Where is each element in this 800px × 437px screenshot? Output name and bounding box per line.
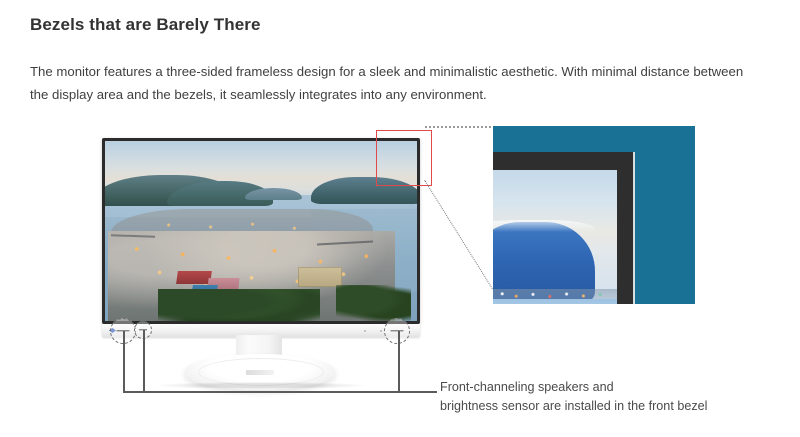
photo-treeline-right [336,285,411,321]
leader-line-speaker-right [398,331,400,393]
control-dot-icon [364,330,366,332]
inset-screen-content [493,170,617,304]
inset-photo-ridge-highlight [493,220,595,232]
photo-red-roof [176,271,212,284]
connector-top-dotted [425,126,495,128]
caption-line-2: brightness sensor are installed in the f… [440,397,770,416]
inset-photo-sea [493,299,617,304]
screen-photo-cityscape [105,141,417,321]
control-dot-icon [380,330,382,332]
photo-large-building [298,267,342,287]
photo-treeline [158,289,320,321]
caption-line-1: Front-channeling speakers and [440,378,770,397]
stand-brand-logo-icon [246,370,274,375]
body-paragraph: The monitor features a three-sided frame… [30,60,750,106]
photo-hill-right [311,177,417,204]
callout-dash-icon [391,330,404,331]
page-title: Bezels that are Barely There [30,15,261,35]
leader-line-sensor [143,330,145,393]
leader-line-horizontal [123,391,437,393]
magnified-bezel-inset [493,126,695,304]
callout-caption: Front-channeling speakers and brightness… [440,378,770,416]
monitor-screen [105,141,417,321]
leader-line-speaker-left [123,331,125,393]
callout-speaker-right [384,318,410,344]
stand-shadow [156,382,366,389]
monitor-panel [102,138,420,324]
monitor-illustration [96,130,436,385]
